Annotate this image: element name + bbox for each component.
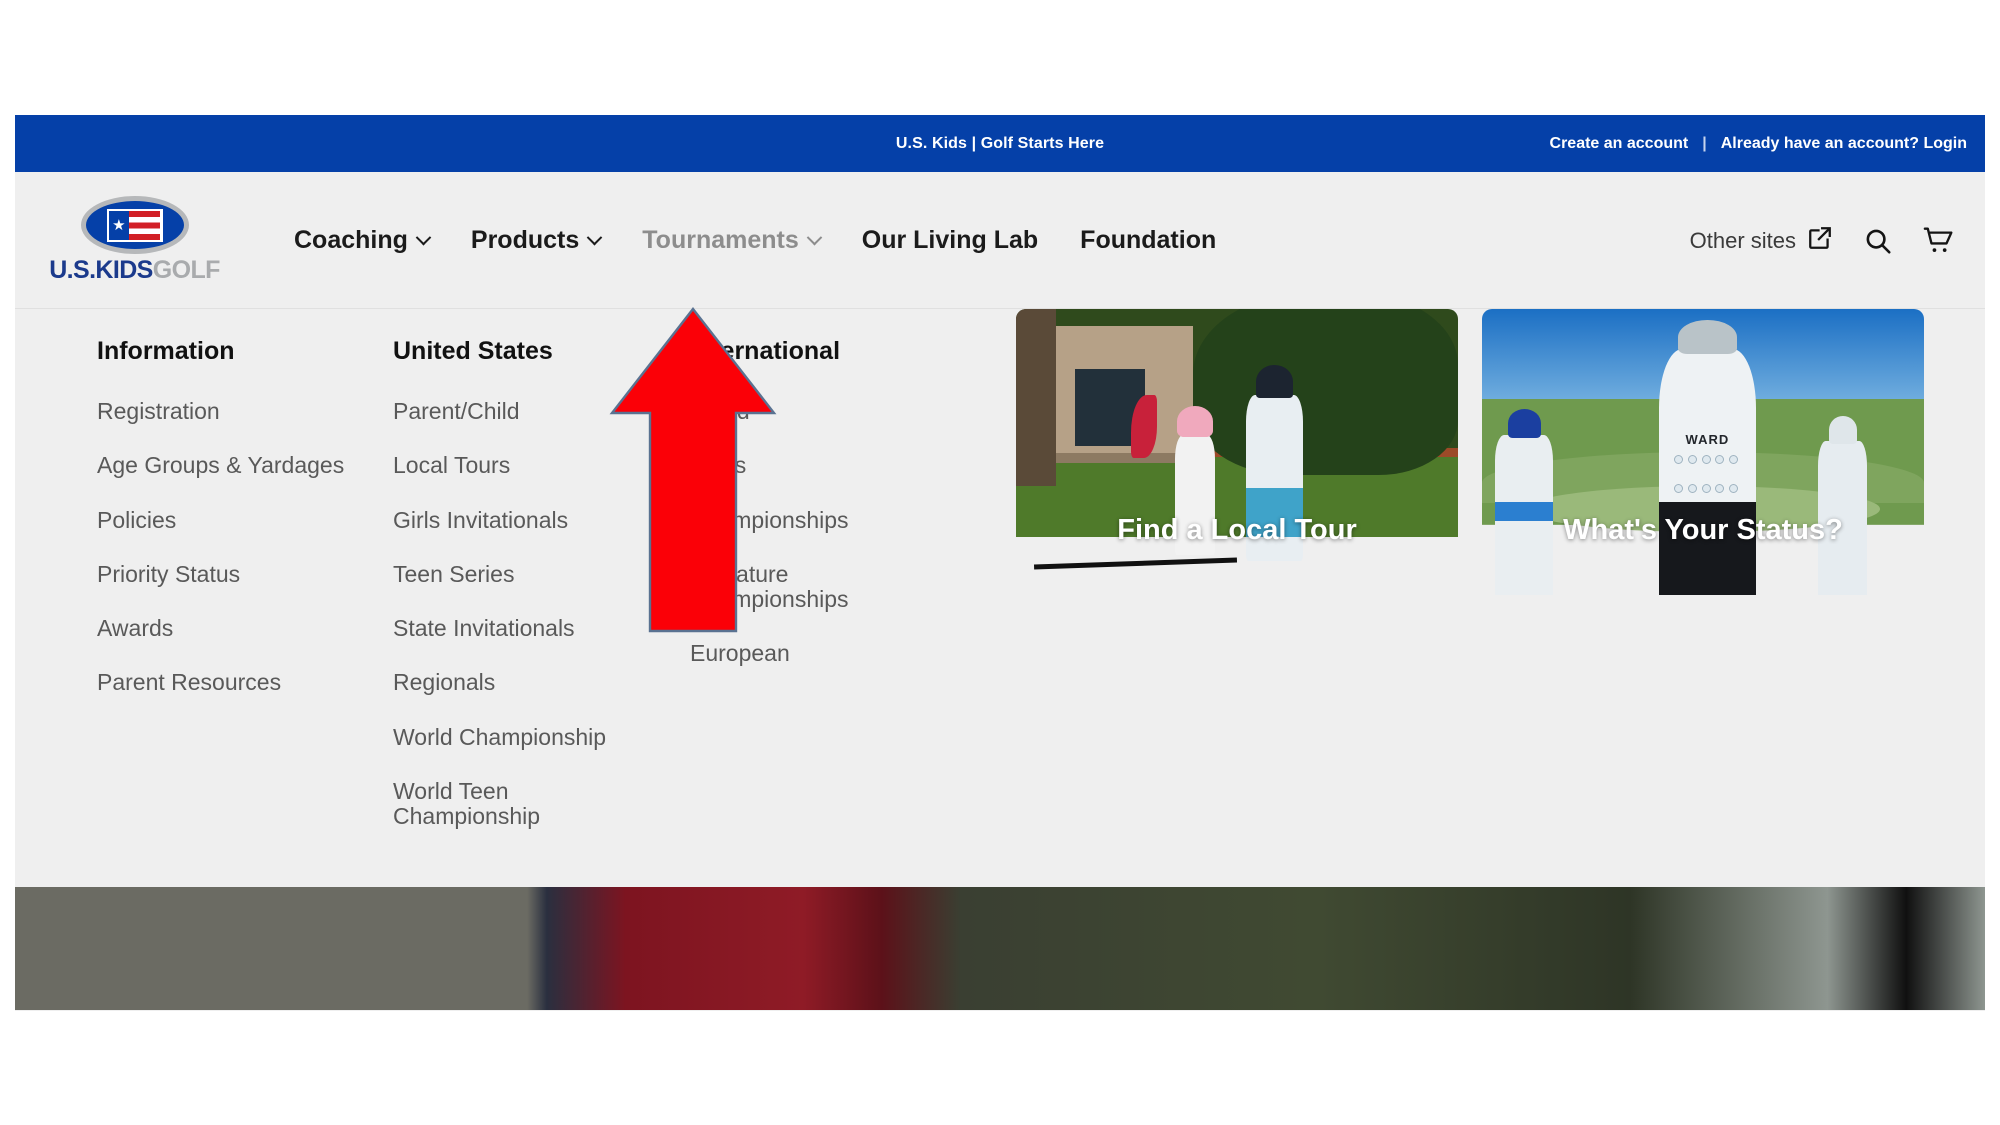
promo-card-whats-your-status[interactable]: WARD What's Your Status? (1482, 309, 1924, 595)
menu-link-priority-status[interactable]: Priority Status (97, 562, 344, 587)
column-title: International (690, 337, 860, 366)
menu-link-registration[interactable]: Registration (97, 399, 344, 424)
menu-link-world-teen-championship[interactable]: World Teen Championship (393, 779, 653, 830)
menu-link-age-groups-yardages[interactable]: Age Groups & Yardages (97, 453, 344, 478)
account-links-separator: | (1702, 135, 1706, 153)
create-account-link[interactable]: Create an account (1550, 135, 1689, 153)
logo-flag-icon: ★ (107, 209, 163, 242)
menu-link-state-invitationals[interactable]: State Invitationals (393, 616, 653, 641)
menu-link-world-championship[interactable]: World Championship (393, 725, 653, 750)
mega-menu-column-international: International World Tours Championships … (690, 337, 860, 696)
menu-link-european[interactable]: European (690, 641, 860, 666)
menu-link-signature-championships[interactable]: Signature Championships (690, 562, 860, 613)
login-link[interactable]: Already have an account? Login (1721, 135, 1967, 153)
cart-icon[interactable] (1923, 226, 1955, 256)
external-link-icon (1807, 225, 1833, 257)
primary-nav-links: Coaching Products Tournaments Our Living… (273, 172, 1237, 309)
utility-bar: U.S. Kids | Golf Starts Here Create an a… (15, 115, 1985, 172)
menu-link-teen-series[interactable]: Teen Series (393, 562, 653, 587)
menu-link-parent-child[interactable]: Parent/Child (393, 399, 653, 424)
logo-wordmark-primary: U.S.KIDS (49, 256, 153, 284)
menu-link-regionals[interactable]: Regionals (393, 670, 653, 695)
chevron-down-icon (587, 230, 603, 246)
column-title: United States (393, 337, 653, 366)
menu-link-awards[interactable]: Awards (97, 616, 344, 641)
other-sites-link[interactable]: Other sites (1690, 225, 1833, 257)
promo-card-caption: What's Your Status? (1482, 514, 1924, 547)
nav-utility-icons: Other sites (1690, 172, 1955, 309)
menu-link-local-tours[interactable]: Local Tours (393, 453, 653, 478)
hero-banner-strip (15, 887, 1985, 1010)
menu-link-girls-invitationals[interactable]: Girls Invitationals (393, 508, 653, 533)
promo-card-find-a-local-tour[interactable]: Find a Local Tour (1016, 309, 1458, 595)
menu-link-tours[interactable]: Tours (690, 453, 860, 478)
mega-menu-column-information: Information Registration Age Groups & Ya… (97, 337, 344, 725)
promo-card-image (1016, 309, 1458, 595)
nav-item-foundation[interactable]: Foundation (1059, 226, 1237, 255)
nav-item-products[interactable]: Products (450, 226, 621, 255)
nav-item-our-living-lab[interactable]: Our Living Lab (841, 226, 1059, 255)
menu-link-policies[interactable]: Policies (97, 508, 344, 533)
website-page: U.S. Kids | Golf Starts Here Create an a… (15, 115, 1985, 1011)
logo-wordmark: U.S.KIDSGOLF (49, 258, 220, 283)
promo-card-image: WARD (1482, 309, 1924, 595)
nav-item-coaching[interactable]: Coaching (273, 226, 450, 255)
account-links: Create an account | Already have an acco… (1550, 115, 1967, 172)
search-icon[interactable] (1863, 226, 1893, 256)
nav-item-label: Products (471, 226, 579, 255)
menu-link-world[interactable]: World (690, 399, 860, 424)
nav-item-tournaments[interactable]: Tournaments (621, 226, 841, 255)
logo-oval-icon: ★ (81, 196, 189, 254)
nav-item-label: Our Living Lab (862, 226, 1038, 255)
nav-item-label: Coaching (294, 226, 408, 255)
nav-item-label: Foundation (1080, 226, 1216, 255)
column-title: Information (97, 337, 344, 366)
nav-item-label: Tournaments (642, 226, 799, 255)
tournaments-mega-menu: Information Registration Age Groups & Ya… (15, 309, 1985, 887)
menu-link-championships[interactable]: Championships (690, 508, 860, 533)
logo-wordmark-secondary: GOLF (153, 256, 220, 284)
chevron-down-icon (416, 230, 432, 246)
site-logo[interactable]: ★ U.S.KIDSGOLF (57, 196, 212, 288)
main-navigation-bar: ★ U.S.KIDSGOLF Coaching Products Tournam… (15, 172, 1985, 309)
mega-menu-column-united-states: United States Parent/Child Local Tours G… (393, 337, 653, 859)
logo-flag-stripes (129, 211, 160, 240)
logo-flag-star: ★ (109, 211, 130, 240)
promo-card-caption: Find a Local Tour (1016, 514, 1458, 547)
menu-link-parent-resources[interactable]: Parent Resources (97, 670, 344, 695)
chevron-down-icon (806, 230, 822, 246)
other-sites-label: Other sites (1690, 228, 1796, 254)
